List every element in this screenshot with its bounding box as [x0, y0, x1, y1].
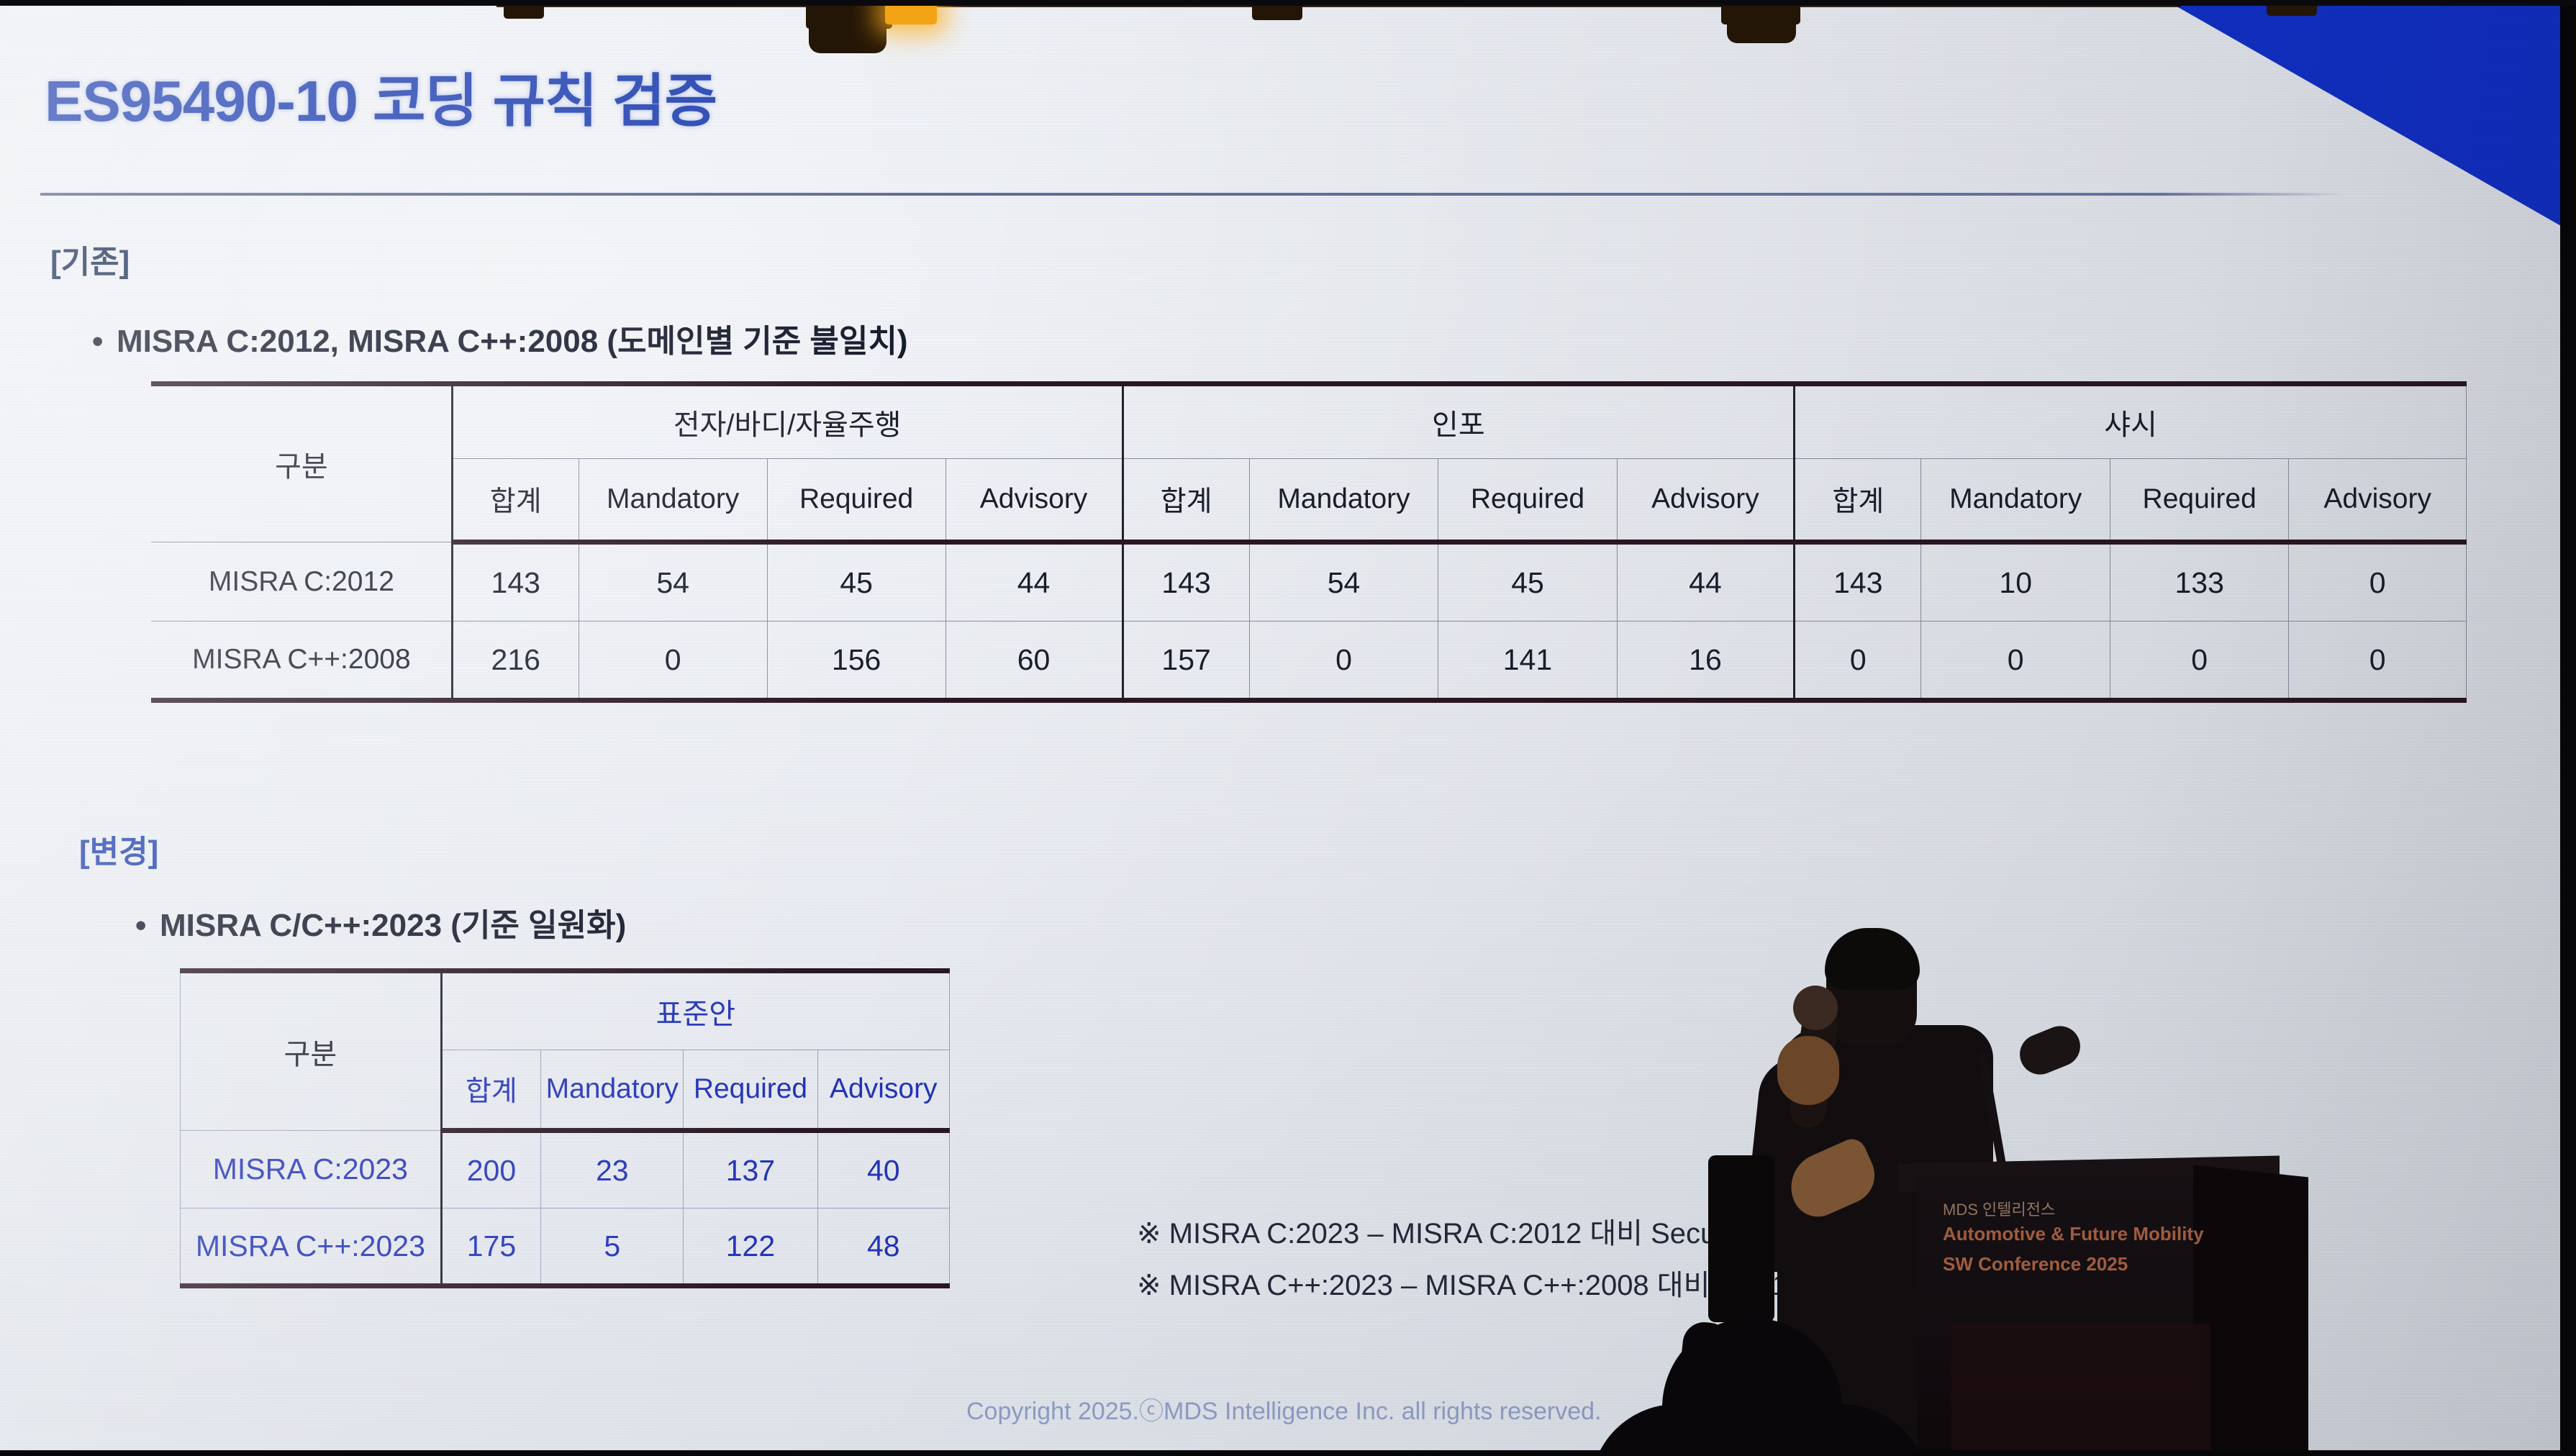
cell: 141 — [1438, 622, 1617, 701]
subheader-0-0: 합계 — [452, 459, 579, 542]
subheader-3: Advisory — [817, 1050, 949, 1131]
podium-event-line-1: Automotive & Future Mobility — [1943, 1223, 2204, 1245]
bullet-existing: •MISRA C:2012, MISRA C++:2008 (도메인별 기준 불… — [92, 315, 908, 361]
bullet-dot-icon: • — [135, 908, 160, 944]
table-row-group-header: 구분 전자/바디/자율주행 인포 샤시 — [152, 384, 2467, 459]
table-row: MISRA C:2023 200 23 137 40 — [181, 1131, 950, 1209]
cell: 156 — [767, 622, 945, 701]
conference-photo-scene: ES95490-10 코딩 규칙 검증 [기존] •MISRA C:2012, … — [0, 0, 2576, 1456]
cell: 0 — [2289, 542, 2467, 622]
subheader-2-3: Advisory — [2289, 459, 2467, 542]
cell: 45 — [767, 542, 945, 622]
subheader-1-0: 합계 — [1123, 459, 1249, 542]
row-label: MISRA C++:2023 — [181, 1209, 442, 1286]
cell: 0 — [1921, 622, 2110, 701]
cell: 23 — [541, 1131, 684, 1209]
bullet-dot-icon: • — [92, 324, 117, 360]
subheader-0: 합계 — [441, 1050, 540, 1131]
cell: 44 — [945, 542, 1123, 622]
bullet-changed: •MISRA C/C++:2023 (기준 일원화) — [135, 899, 626, 945]
table-existing-standards: 구분 전자/바디/자율주행 인포 샤시 합계 Mandatory Require… — [151, 381, 2467, 703]
cell: 137 — [684, 1131, 817, 1209]
cell: 133 — [2110, 542, 2288, 622]
table-row-sub-header: 합계 Mandatory Required Advisory 합계 Mandat… — [152, 459, 2467, 542]
cell: 10 — [1921, 542, 2110, 622]
cell: 0 — [1249, 622, 1438, 701]
frame-edge-right — [2560, 0, 2576, 1456]
table-row: MISRA C++:2023 175 5 122 48 — [181, 1209, 950, 1286]
row-label: MISRA C++:2008 — [152, 622, 453, 701]
subheader-1-2: Required — [1438, 459, 1617, 542]
group-header-1: 인포 — [1123, 384, 1795, 459]
cell: 0 — [579, 622, 767, 701]
subheader-2-2: Required — [2110, 459, 2288, 542]
row-label: MISRA C:2012 — [152, 542, 453, 622]
section-heading-existing: [기존] — [50, 236, 130, 282]
corner-bar-decoration — [2403, 4, 2576, 62]
stage-light-glow-icon — [885, 3, 937, 24]
podium-side-panel — [2193, 1165, 2308, 1456]
table-row-group-header: 구분 표준안 — [181, 971, 950, 1050]
title-divider — [40, 193, 2346, 196]
cell: 0 — [1795, 622, 1921, 701]
podium-event-line-2: SW Conference 2025 — [1943, 1253, 2128, 1275]
cell: 122 — [684, 1209, 817, 1286]
frame-edge-bottom — [0, 1450, 2576, 1456]
subheader-0-1: Mandatory — [579, 459, 767, 542]
cell: 175 — [441, 1209, 540, 1286]
table-changed-standards: 구분 표준안 합계 Mandatory Required Advisory MI… — [180, 968, 950, 1288]
group-header-0: 전자/바디/자율주행 — [452, 384, 1123, 459]
cell: 143 — [452, 542, 579, 622]
subheader-0-2: Required — [767, 459, 945, 542]
cell: 40 — [817, 1131, 949, 1209]
podium-lower-panel — [1951, 1324, 2210, 1456]
row-label: MISRA C:2023 — [181, 1131, 442, 1209]
speaker-hand — [1777, 1036, 1839, 1105]
cell: 216 — [452, 622, 579, 701]
cell: 200 — [441, 1131, 540, 1209]
audience-shoulders — [1590, 1404, 1928, 1456]
cell: 0 — [2289, 622, 2467, 701]
header-id-column: 구분 — [181, 971, 442, 1131]
audience-phone — [1708, 1155, 1774, 1322]
group-header-2: 샤시 — [1795, 384, 2467, 459]
table-row: MISRA C:2012 143 54 45 44 143 54 45 44 1… — [152, 542, 2467, 622]
frame-edge-top — [0, 0, 2576, 6]
header-id-column: 구분 — [152, 384, 453, 542]
stage-light-housing — [1727, 0, 1796, 43]
table-row: MISRA C++:2008 216 0 156 60 157 0 141 16… — [152, 622, 2467, 701]
podium-brand-label: MDS 인텔리전스 — [1943, 1197, 2055, 1220]
page-title: ES95490-10 코딩 규칙 검증 — [45, 55, 717, 138]
subheader-1-3: Advisory — [1617, 459, 1794, 542]
cell: 45 — [1438, 542, 1617, 622]
subheader-1: Mandatory — [541, 1050, 684, 1131]
subheader-1-1: Mandatory — [1249, 459, 1438, 542]
copyright-notice: Copyright 2025.ⓒMDS Intelligence Inc. al… — [966, 1391, 1602, 1427]
cell: 0 — [2110, 622, 2288, 701]
subheader-2: Required — [684, 1050, 817, 1131]
bullet-changed-text: MISRA C/C++:2023 (기준 일원화) — [160, 908, 626, 943]
cell: 54 — [579, 542, 767, 622]
section-heading-changed: [변경] — [79, 826, 158, 872]
cell: 143 — [1123, 542, 1249, 622]
subheader-2-1: Mandatory — [1921, 459, 2110, 542]
cell: 5 — [541, 1209, 684, 1286]
cell: 54 — [1249, 542, 1438, 622]
cell: 60 — [945, 622, 1123, 701]
subheader-0-3: Advisory — [945, 459, 1123, 542]
stage-light-housing — [809, 0, 886, 53]
cell: 143 — [1795, 542, 1921, 622]
bullet-existing-text: MISRA C:2012, MISRA C++:2008 (도메인별 기준 불일… — [117, 324, 908, 359]
group-header-standard: 표준안 — [441, 971, 949, 1050]
cell: 16 — [1617, 622, 1794, 701]
cell: 48 — [817, 1209, 949, 1286]
handheld-microphone-icon — [1793, 986, 1838, 1030]
subheader-2-0: 합계 — [1795, 459, 1921, 542]
cell: 44 — [1617, 542, 1794, 622]
cell: 157 — [1123, 622, 1249, 701]
